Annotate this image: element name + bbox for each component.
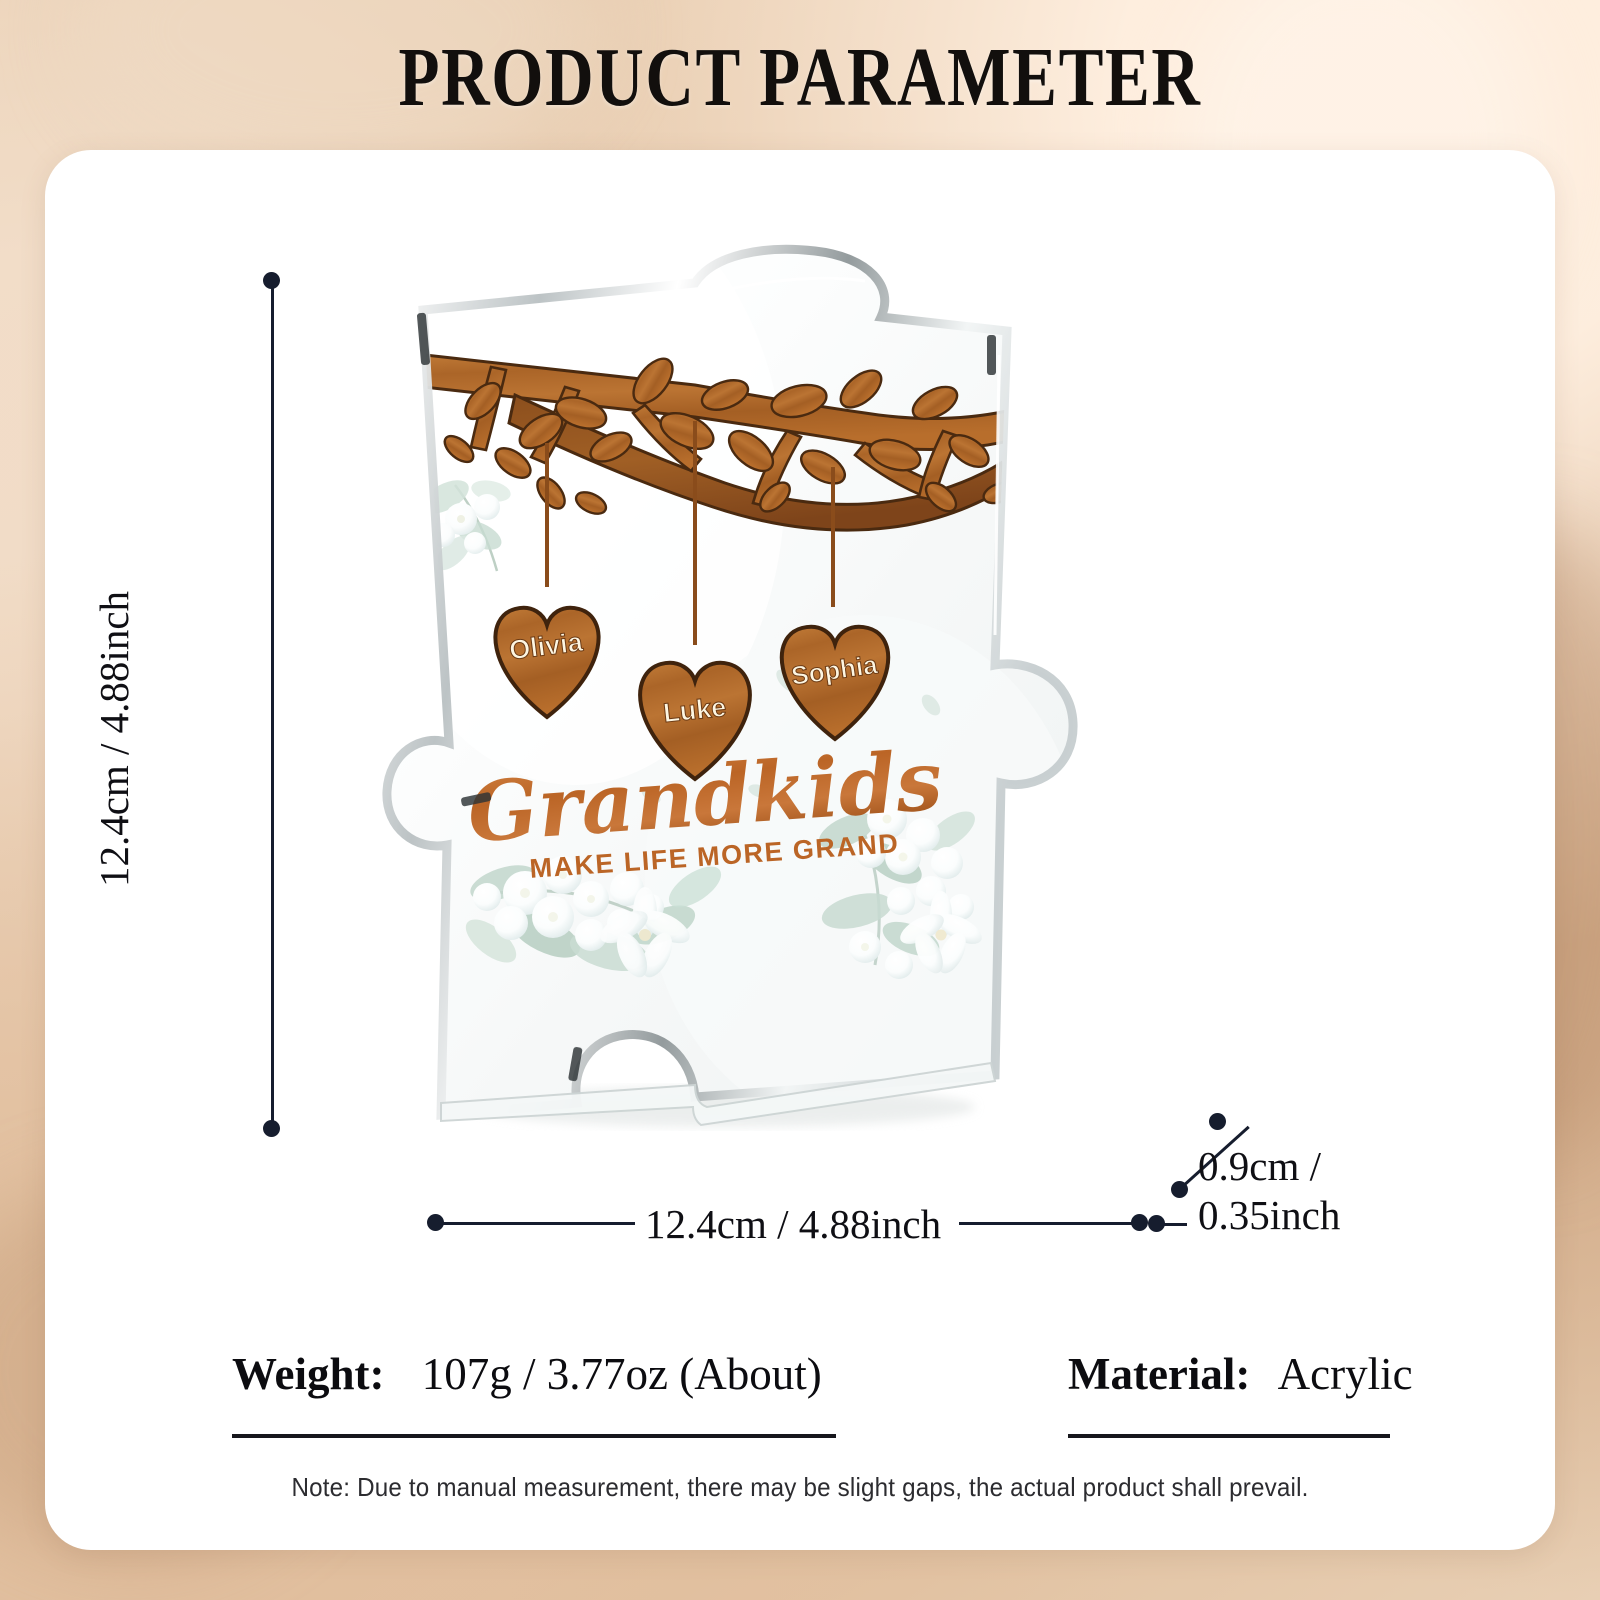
infographic-root: PRODUCT PARAMETER [0,0,1600,1600]
spec-row-material: Material: Acrylic [1068,1348,1413,1400]
spec-value-material: Acrylic [1278,1349,1413,1399]
footer-note: Note: Due to manual measurement, there m… [56,1472,1544,1503]
spec-value-weight: 107g / 3.77oz (About) [422,1349,822,1399]
spec-row-weight: Weight: 107g / 3.77oz (About) [232,1348,822,1400]
spec-key-material: Material: [1068,1349,1250,1399]
spec-rule-weight [232,1434,836,1438]
thickness-dot-mid [1171,1181,1188,1198]
thickness-label-line1: 0.9cm / [1198,1142,1340,1191]
height-dim-line [271,285,274,1130]
height-dim-dot-bottom [263,1120,280,1137]
width-dim-label: 12.4cm / 4.88inch [645,1200,941,1248]
width-dim-dot-right [1131,1214,1148,1231]
thickness-label-line2: 0.35inch [1198,1191,1340,1240]
height-dim-label: 12.4cm / 4.88inch [90,559,138,919]
thickness-dot-upper [1209,1113,1226,1130]
spec-key-weight: Weight: [232,1349,385,1399]
page-title: PRODUCT PARAMETER [160,36,1440,120]
width-dim-line-left [437,1222,635,1225]
thickness-label: 0.9cm / 0.35inch [1198,1142,1340,1240]
spec-rule-material [1068,1434,1390,1438]
width-dim-line-right [959,1222,1137,1225]
product-image: Olivia Luke Sophia Grandkids MAKE LIFE [395,235,1055,1135]
thickness-dot-lower [1148,1215,1165,1232]
